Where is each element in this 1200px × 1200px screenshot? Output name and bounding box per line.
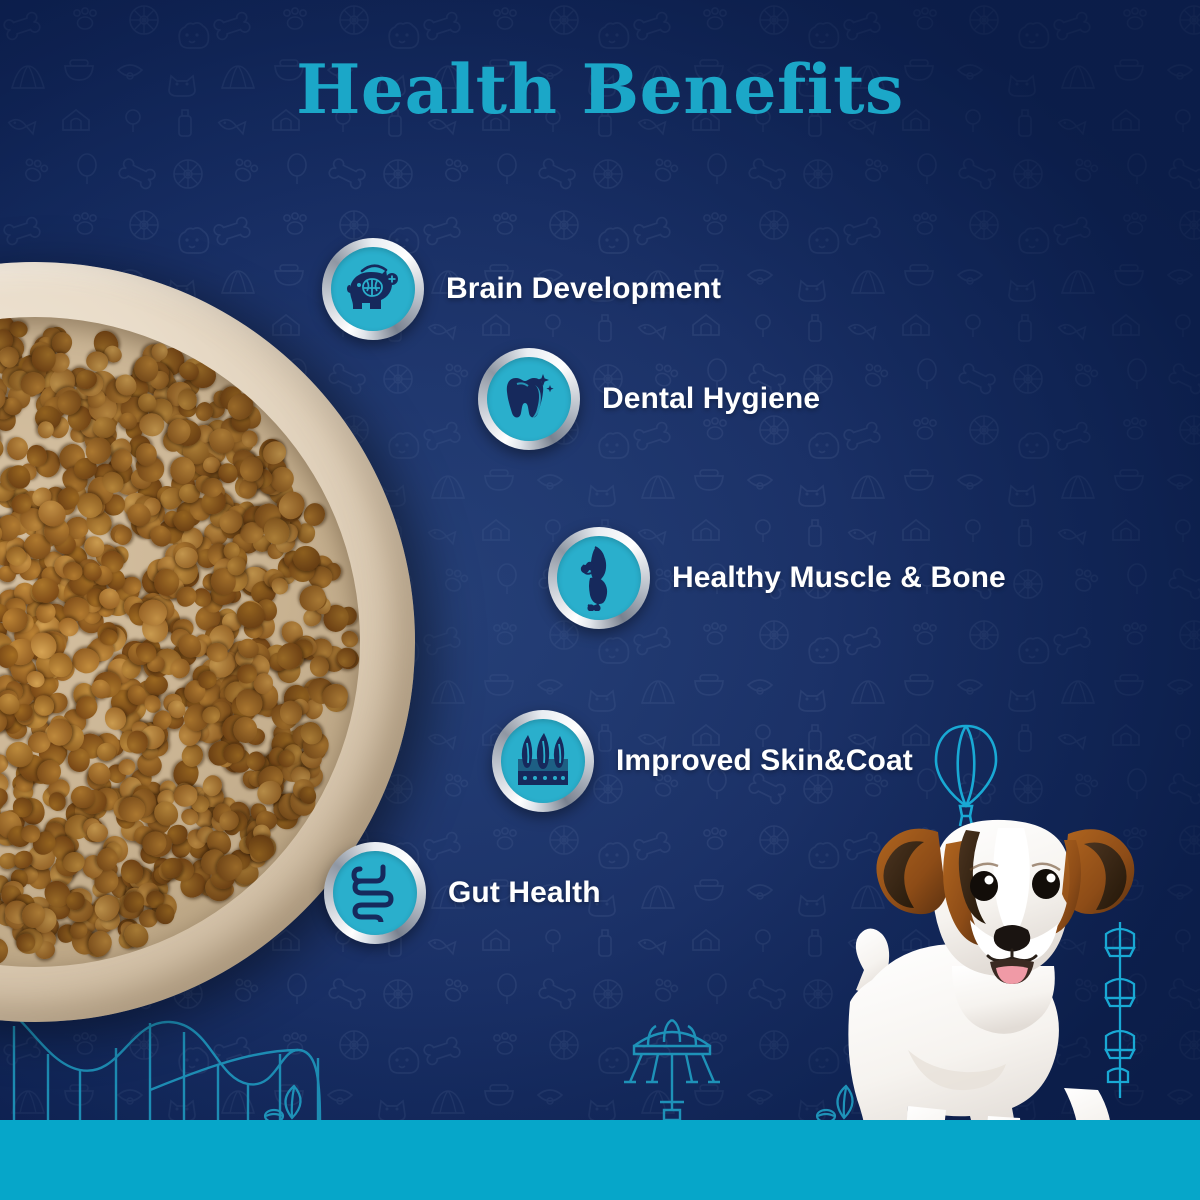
footer-bar [0,1120,1200,1200]
benefit-item-brain-development[interactable]: Brain Development [322,238,721,340]
badge-fill [501,719,585,803]
bowl-interior [0,317,360,968]
benefit-item-gut-health[interactable]: Gut Health [324,842,601,944]
benefit-item-healthy-muscle-bone[interactable]: Healthy Muscle & Bone [548,527,1006,629]
health-benefits-poster: Health Benefits [0,0,1200,1200]
benefit-item-dental-hygiene[interactable]: Dental Hygiene [478,348,820,450]
benefit-label: Gut Health [448,876,601,910]
tooth-sparkle-icon [503,372,555,426]
badge-ring [548,527,650,629]
leaf-sprout-line-art [258,1070,314,1124]
benefit-label: Healthy Muscle & Bone [672,561,1006,595]
badge-ring [492,710,594,812]
intestine-icon [347,864,403,922]
leg-muscle-bone-icon [575,545,623,611]
benefit-label: Brain Development [446,272,721,306]
badge-ring [478,348,580,450]
benefit-label: Dental Hygiene [602,382,820,416]
badge-fill [333,851,417,935]
badge-fill [331,247,415,331]
dog-brain-icon [345,263,401,315]
badge-ring [324,842,426,944]
hair-follicle-skin-icon [514,733,572,789]
badge-fill [557,536,641,620]
badge-fill [487,357,571,441]
page-title: Health Benefits [0,56,1200,124]
badge-ring [322,238,424,340]
kibble-pile [0,317,360,968]
carousel-swing-ride-line-art [612,1012,732,1122]
